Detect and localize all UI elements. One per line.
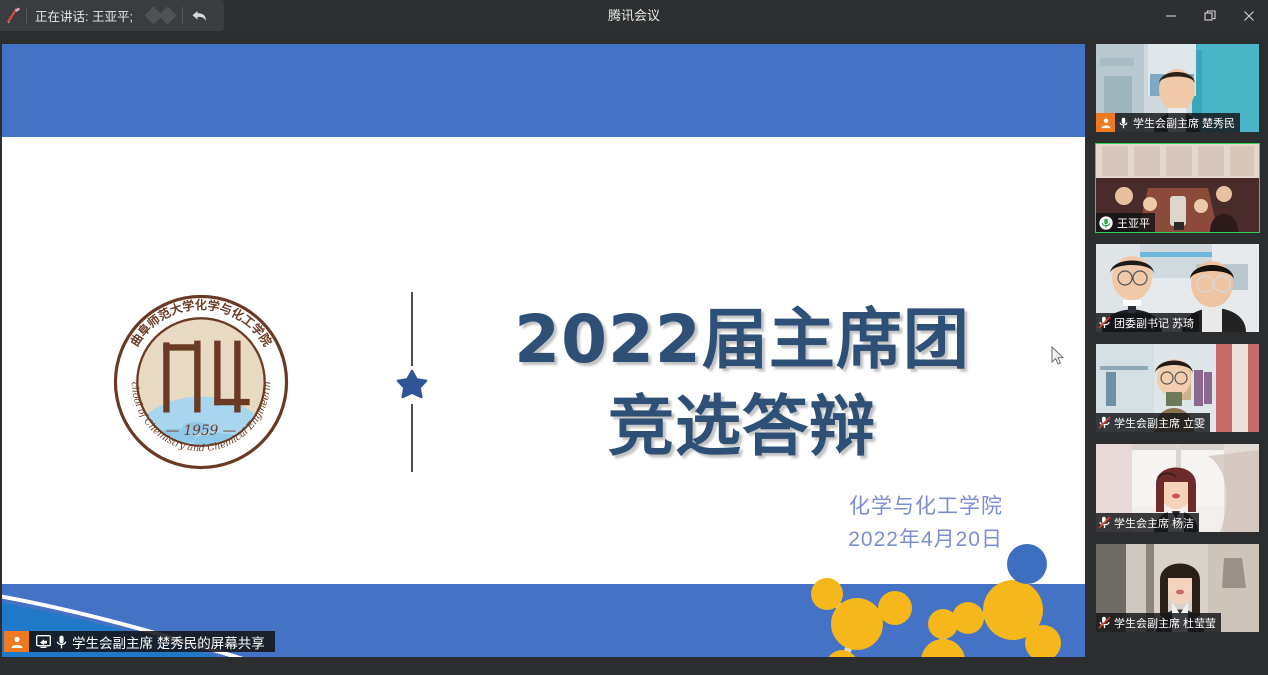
- share-footer-banner: 学生会副主席 楚秀民的屏幕共享: [4, 631, 275, 652]
- participant-name: 学生会副主席 杜莹莹: [1112, 615, 1221, 631]
- molecule-decoration: [785, 542, 1085, 657]
- participant-name-bar: 学生会主席 杨洁: [1096, 513, 1199, 532]
- slide-title-line-1: 2022届主席团: [462, 296, 1022, 383]
- participant-tile[interactable]: 学生会副主席 楚秀民: [1096, 44, 1259, 132]
- restore-button[interactable]: [1190, 0, 1229, 31]
- slide-title-line-2: 竞选答辩: [462, 383, 1022, 470]
- participant-name-bar: 学生会副主席 杜莹莹: [1096, 613, 1221, 632]
- microphone-icon: [1115, 113, 1131, 132]
- participant-name-bar: 学生会副主席 立雯: [1096, 413, 1210, 432]
- tencent-meeting-window: 腾讯会议 正在讲话: 王亚平;: [0, 0, 1268, 675]
- toolbar-divider-2: [182, 7, 183, 24]
- grip-diamond-2: [158, 6, 176, 24]
- participant-tile[interactable]: 学生会副主席 杜莹莹: [1096, 544, 1259, 632]
- participant-tile[interactable]: 学生会主席 杨洁: [1096, 444, 1259, 532]
- divider-line-bottom: [411, 404, 413, 472]
- share-footer-icons: [29, 635, 72, 649]
- participant-name: 学生会主席 杨洁: [1112, 515, 1199, 531]
- minimize-button[interactable]: [1151, 0, 1190, 31]
- title-bar: 腾讯会议 正在讲话: 王亚平;: [0, 0, 1268, 31]
- star-icon: [395, 368, 429, 402]
- participant-tile[interactable]: 学生会副主席 立雯: [1096, 344, 1259, 432]
- slide-divider: [410, 292, 414, 472]
- molecule-node: [831, 598, 883, 650]
- participant-name: 团委副书记 苏琦: [1112, 315, 1199, 331]
- participant-name-bar: 王亚平: [1096, 213, 1155, 232]
- participant-name-bar: 团委副书记 苏琦: [1096, 313, 1199, 332]
- presentation-slide: — 1959 — 曲阜师范大学化学与化工学院 School of Chemist…: [2, 44, 1085, 657]
- participant-tile[interactable]: 团委副书记 苏琦: [1096, 244, 1259, 332]
- participant-rail[interactable]: 学生会副主席 楚秀民: [1087, 31, 1268, 675]
- mouse-cursor: [1051, 346, 1065, 366]
- microphone-muted-icon: [1096, 413, 1112, 432]
- molecule-node: [921, 639, 965, 657]
- participant-name-bar: 学生会副主席 楚秀民: [1096, 113, 1240, 132]
- molecule-node-blue: [1007, 544, 1047, 584]
- tencent-meeting-icon: [0, 0, 26, 31]
- participant-name: 王亚平: [1115, 215, 1155, 231]
- microphone-icon: [56, 635, 67, 649]
- return-arrow-icon[interactable]: [185, 0, 215, 31]
- speaking-label: 正在讲话: 王亚平;: [27, 6, 141, 25]
- microphone-icon-active: [1096, 213, 1115, 232]
- molecule-node: [811, 578, 843, 610]
- speaking-toolbar[interactable]: 正在讲话: 王亚平;: [0, 0, 224, 31]
- participant-name: 学生会副主席 立雯: [1112, 415, 1210, 431]
- close-button[interactable]: [1229, 0, 1268, 31]
- microphone-muted-icon: [1096, 513, 1112, 532]
- window-controls: [1151, 0, 1268, 31]
- microphone-muted-icon: [1096, 613, 1112, 632]
- person-avatar-icon: [4, 631, 29, 652]
- screen-share-icon: [36, 635, 51, 648]
- slide-top-band: [2, 44, 1085, 137]
- school-of-chemistry-logo: — 1959 — 曲阜师范大学化学与化工学院 School of Chemist…: [110, 284, 292, 480]
- slide-subtitle-line-1: 化学与化工学院: [583, 491, 1003, 524]
- molecule-node: [826, 650, 858, 657]
- shared-screen-area[interactable]: — 1959 — 曲阜师范大学化学与化工学院 School of Chemist…: [0, 31, 1087, 675]
- participant-tile[interactable]: 王亚平: [1096, 144, 1259, 232]
- drag-handle-icon[interactable]: [141, 9, 180, 22]
- molecule-node: [952, 602, 984, 634]
- molecule-node: [878, 591, 912, 625]
- svg-text:— 1959 —: — 1959 —: [166, 423, 237, 439]
- slide-top-gap: [2, 137, 1085, 144]
- divider-line-top: [411, 292, 413, 366]
- participant-name: 学生会副主席 楚秀民: [1131, 115, 1240, 131]
- person-avatar-icon: [1096, 113, 1115, 132]
- microphone-muted-icon: [1096, 313, 1112, 332]
- share-footer-label: 学生会副主席 楚秀民的屏幕共享: [72, 632, 275, 652]
- slide-title: 2022届主席团 竞选答辩: [462, 296, 1022, 470]
